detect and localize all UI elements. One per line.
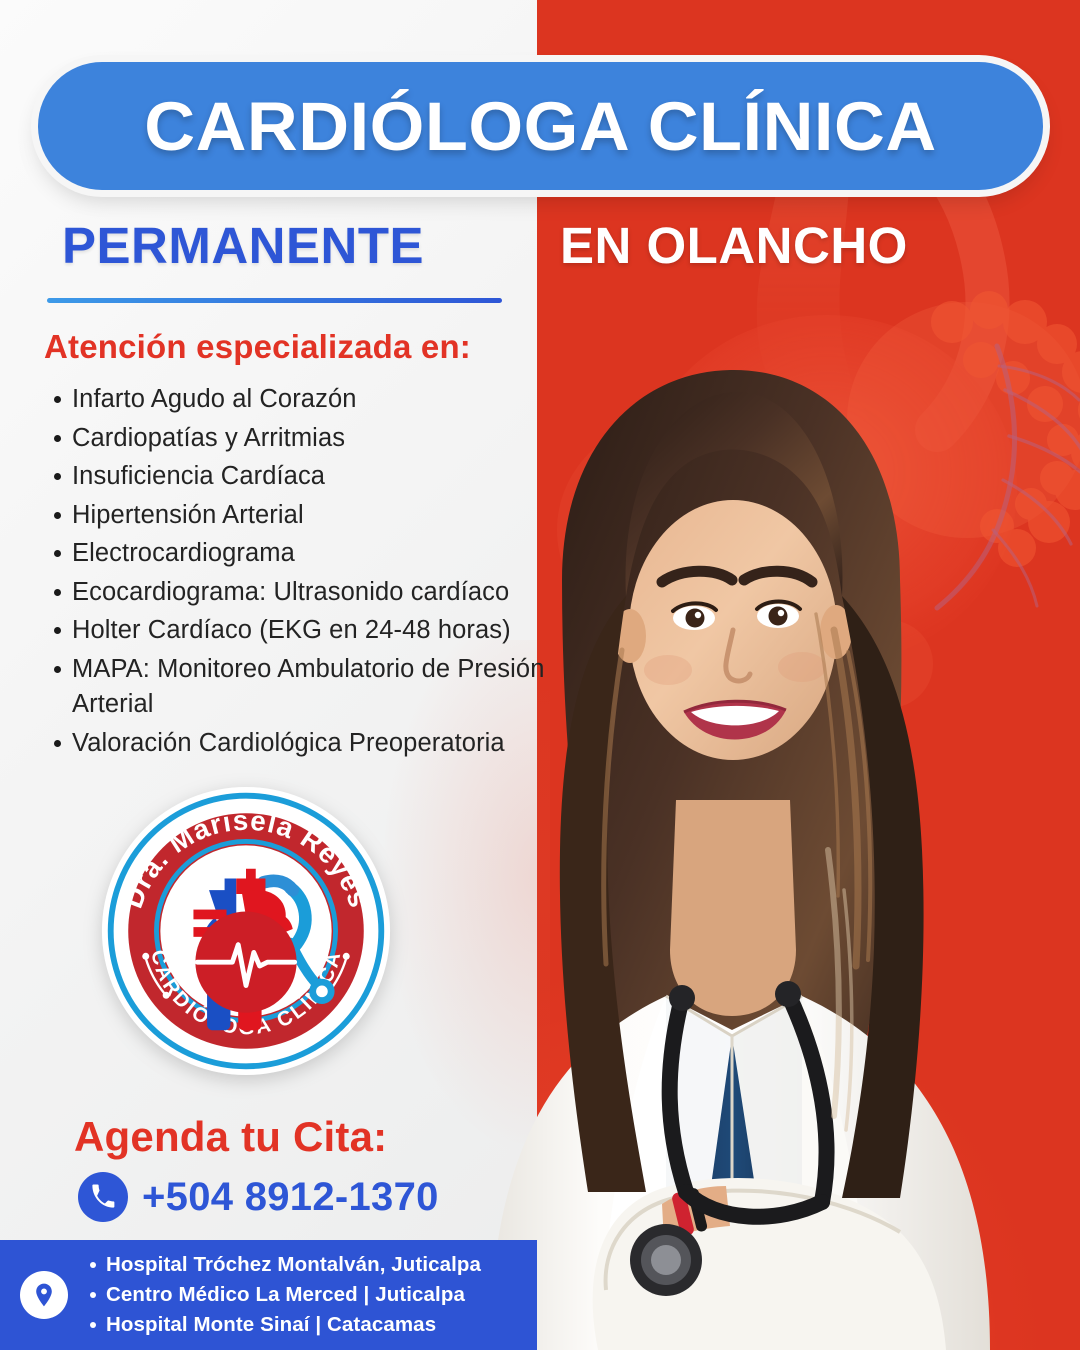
subtitle-left: PERMANENTE (62, 206, 522, 284)
page-title: CARDIÓLOGA CLÍNICA (144, 87, 936, 166)
subtitle-left-text: PERMANENTE (62, 216, 424, 275)
services-heading: Atención especializada en: (44, 328, 471, 366)
list-item: Ecocardiograma: Ultrasonido cardíaco (46, 575, 546, 611)
list-item: Hipertensión Arterial (46, 498, 546, 534)
locations-list: Hospital Tróchez Montalván, Juticalpa Ce… (84, 1250, 481, 1340)
list-item: Electrocardiograma (46, 536, 546, 572)
phone-row[interactable]: +504 8912-1370 (78, 1172, 439, 1222)
list-item: Holter Cardíaco (EKG en 24-48 horas) (46, 613, 546, 649)
phone-icon (78, 1172, 128, 1222)
phone-number[interactable]: +504 8912-1370 (142, 1175, 439, 1220)
subtitle-right: EN OLANCHO (560, 206, 1030, 284)
cta-heading: Agenda tu Cita: (74, 1113, 387, 1161)
locations-bar: Hospital Tróchez Montalván, Juticalpa Ce… (0, 1240, 537, 1350)
list-item: Cardiopatías y Arritmias (46, 421, 546, 457)
clinic-logo: Dra. Marisela Reyes CARDIÓLOGA CLÍNICA (100, 785, 392, 1077)
services-list: Infarto Agudo al Corazón Cardiopatías y … (46, 382, 546, 764)
list-item: Hospital Monte Sinaí | Catacamas (84, 1310, 481, 1340)
list-item: Insuficiencia Cardíaca (46, 459, 546, 495)
list-item: Infarto Agudo al Corazón (46, 382, 546, 418)
map-pin-icon (20, 1271, 68, 1319)
subtitle-right-text: EN OLANCHO (560, 216, 908, 275)
list-item: Hospital Tróchez Montalván, Juticalpa (84, 1250, 481, 1280)
subtitle-row: PERMANENTE EN OLANCHO (0, 206, 1080, 284)
headline-banner: CARDIÓLOGA CLÍNICA (38, 62, 1043, 190)
flyer-canvas: CARDIÓLOGA CLÍNICA PERMANENTE EN OLANCHO… (0, 0, 1080, 1350)
list-item: Valoración Cardiológica Preoperatoria (46, 726, 546, 762)
list-item: MAPA: Monitoreo Ambulatorio de Presión A… (46, 652, 546, 723)
list-item: Centro Médico La Merced | Juticalpa (84, 1280, 481, 1310)
blue-divider-line (47, 298, 502, 303)
